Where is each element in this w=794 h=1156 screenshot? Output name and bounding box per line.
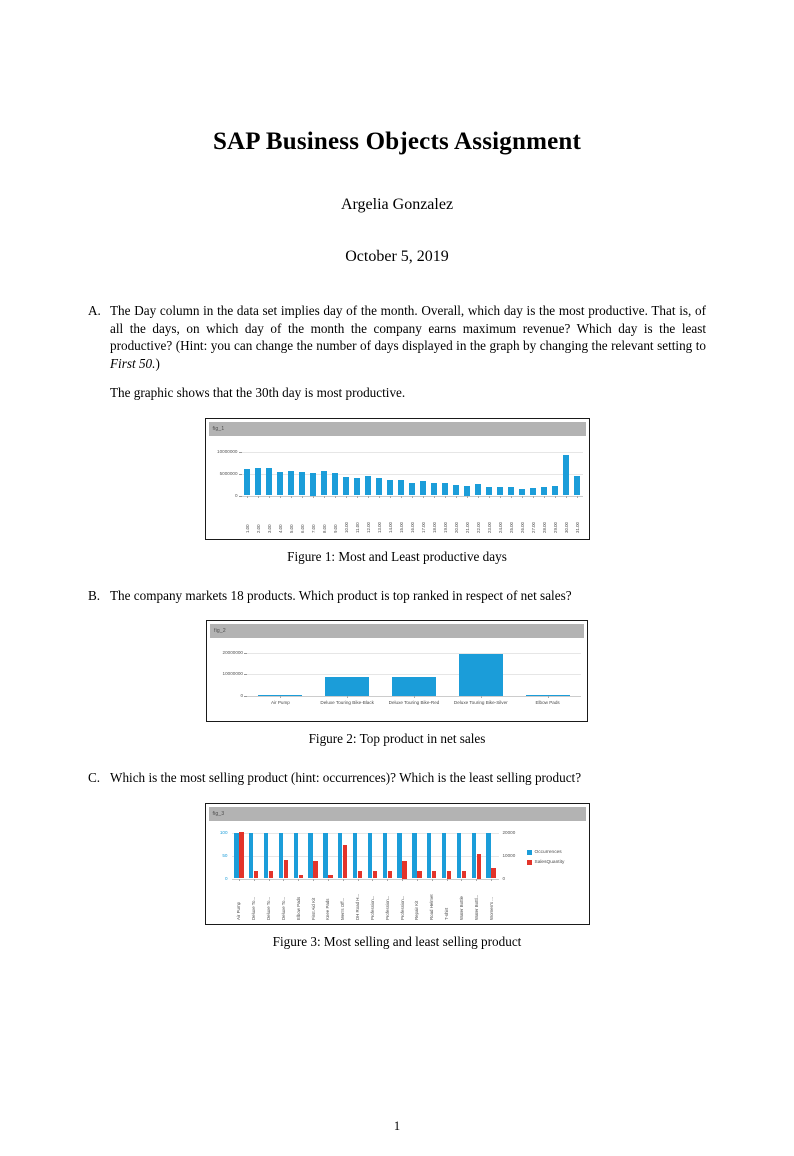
x-axis-label-28: 29.00: [553, 499, 558, 533]
item-c-label: C.: [88, 769, 110, 787]
list-item-b: B. The company markets 18 products. Whic…: [88, 587, 706, 605]
bar-2: [392, 677, 436, 696]
bar-salesquantity-3: [284, 860, 288, 879]
x-axis-label-11: Profession...: [400, 882, 405, 920]
bar-salesquantity-5: [313, 861, 317, 879]
x-axis-label-1: 2.00: [256, 499, 261, 533]
bar-5: [299, 472, 306, 496]
x-axis-label-9: Profession...: [370, 882, 375, 920]
bar-22: [486, 487, 493, 496]
x-axis-tick-mark: [324, 496, 325, 498]
item-a-label: A.: [88, 302, 110, 320]
bar-occurrences-2: [264, 833, 268, 878]
x-axis-tick-mark: [401, 496, 402, 498]
x-axis-tick-mark: [555, 496, 556, 498]
bar-25: [519, 489, 526, 496]
bar-salesquantity-16: [477, 854, 481, 879]
x-axis-label-1: Deluxe To...: [251, 882, 256, 920]
x-axis-tick-mark: [328, 879, 329, 881]
x-axis-tick-mark: [566, 496, 567, 498]
legend-swatch-1: [527, 860, 532, 865]
x-axis-label-3: Deluxe Touring Bike-Silver: [447, 700, 514, 705]
y-axis-tick-mark: [239, 496, 242, 497]
x-axis-tick-mark: [461, 879, 462, 881]
bar-occurrences-6: [323, 833, 327, 878]
chart-3-title: fig_3: [213, 811, 225, 817]
legend-item-0: Occurrences: [527, 850, 565, 855]
x-axis-label-22: 23.00: [487, 499, 492, 533]
bar-12: [376, 478, 383, 495]
bar-15: [409, 483, 416, 496]
x-axis-tick-mark: [417, 879, 418, 881]
item-b-label: B.: [88, 587, 110, 605]
document-author: Argelia Gonzalez: [0, 196, 794, 214]
bar-10: [354, 478, 361, 496]
x-axis-tick-mark: [335, 496, 336, 498]
y-axis-tick-mark: [239, 474, 242, 475]
x-axis-label-2: 3.00: [267, 499, 272, 533]
document-date: October 5, 2019: [0, 248, 794, 266]
bar-occurrences-7: [338, 833, 342, 878]
x-axis-tick-mark: [434, 496, 435, 498]
y-axis-tick-label: 0: [206, 493, 238, 498]
x-axis-tick-mark: [358, 879, 359, 881]
y-axis-left-tick-label: 0: [206, 876, 228, 881]
x-axis-label-12: Repair Kit: [414, 882, 419, 920]
x-axis-label-9: 10.00: [344, 499, 349, 533]
x-axis-tick-mark: [247, 496, 248, 498]
x-axis-label-13: Road Helmet: [429, 882, 434, 920]
x-axis-label-12: 13.00: [377, 499, 382, 533]
bar-occurrences-16: [472, 833, 476, 878]
chart-2[interactable]: fig_2 01000000020000000Air PumpDeluxe To…: [206, 620, 588, 722]
bar-occurrences-1: [249, 833, 253, 878]
x-axis-label-0: Air Pump: [236, 882, 241, 920]
bar-occurrences-13: [427, 833, 431, 878]
bar-occurrences-4: [294, 833, 298, 878]
x-axis-label-4: Elbow Pads: [296, 882, 301, 920]
bar-salesquantity-15: [462, 871, 466, 879]
x-axis-tick-mark: [522, 496, 523, 498]
item-c-question: Which is the most selling product (hint:…: [110, 769, 706, 787]
y-axis-tick-mark: [244, 674, 247, 675]
item-a-body: The Day column in the data set implies d…: [110, 302, 706, 402]
bar-23: [497, 487, 504, 496]
bar-salesquantity-11: [402, 861, 406, 879]
list-item-a: A. The Day column in the data set implie…: [88, 302, 706, 402]
x-axis-label-17: Women's ...: [489, 882, 494, 920]
x-axis-label-16: 17.00: [421, 499, 426, 533]
x-axis-tick-mark: [313, 879, 314, 881]
x-axis-label-8: DH Road H...: [355, 882, 360, 920]
bar-21: [475, 484, 482, 495]
y-axis-tick-mark: [239, 452, 242, 453]
chart-gridline: [242, 452, 583, 453]
chart-legend: OccurrencesSalesQuantity: [527, 850, 565, 865]
x-axis-label-8: 9.00: [333, 499, 338, 533]
x-axis-label-0: Air Pump: [247, 700, 314, 705]
figure-1: fig_1 05000000100000001.002.003.004.005.…: [88, 418, 706, 565]
chart-gridline: [232, 879, 499, 880]
x-axis-tick-mark: [548, 696, 549, 698]
item-a-question: The Day column in the data set implies d…: [110, 302, 706, 372]
x-axis-label-10: Profession...: [385, 882, 390, 920]
legend-item-1: SalesQuantity: [527, 860, 565, 865]
document-title: SAP Business Objects Assignment: [0, 128, 794, 156]
bar-occurrences-11: [397, 833, 401, 878]
x-axis-label-14: 15.00: [399, 499, 404, 533]
x-axis-label-21: 22.00: [476, 499, 481, 533]
bar-3: [459, 654, 503, 696]
x-axis-label-4: Elbow Pads: [514, 700, 581, 705]
list-item-c: C. Which is the most selling product (hi…: [88, 769, 706, 787]
bar-2: [266, 468, 273, 496]
y-axis-left-tick-label: 50: [206, 853, 228, 858]
x-axis-tick-mark: [544, 496, 545, 498]
bar-salesquantity-13: [432, 871, 436, 879]
x-axis-label-20: 21.00: [465, 499, 470, 533]
chart-3[interactable]: fig_3 05010001000020000Air PumpDeluxe To…: [205, 803, 590, 925]
x-axis-tick-mark: [577, 496, 578, 498]
x-axis-tick-mark: [368, 496, 369, 498]
bar-27: [541, 487, 548, 495]
x-axis-tick-mark: [283, 879, 284, 881]
x-axis-label-0: 1.00: [245, 499, 250, 533]
chart-gridline: [247, 674, 581, 675]
x-axis-label-18: 19.00: [443, 499, 448, 533]
x-axis-label-5: First Aid Kit: [311, 882, 316, 920]
x-axis-label-24: 25.00: [509, 499, 514, 533]
x-axis-tick-mark: [269, 496, 270, 498]
bar-occurrences-9: [368, 833, 372, 878]
x-axis-tick-mark: [432, 879, 433, 881]
x-axis-label-5: 6.00: [300, 499, 305, 533]
x-axis-tick-mark: [447, 879, 448, 881]
bar-11: [365, 476, 372, 495]
x-axis-label-16: Water Bottl...: [474, 882, 479, 920]
x-axis-tick-mark: [481, 696, 482, 698]
bar-occurrences-14: [442, 833, 446, 878]
x-axis-tick-mark: [478, 496, 479, 498]
x-axis-label-29: 30.00: [564, 499, 569, 533]
y-axis-tick-mark: [244, 696, 247, 697]
figure-1-caption: Figure 1: Most and Least productive days: [287, 549, 507, 565]
bar-17: [431, 483, 438, 496]
x-axis-tick-mark: [291, 496, 292, 498]
x-axis-label-13: 14.00: [388, 499, 393, 533]
x-axis-tick-mark: [456, 496, 457, 498]
y-axis-tick-label: 5000000: [206, 471, 238, 476]
figure-2: fig_2 01000000020000000Air PumpDeluxe To…: [88, 620, 706, 747]
y-axis-right-tick-label: 20000: [503, 830, 516, 835]
bar-salesquantity-12: [417, 871, 421, 879]
bar-16: [420, 481, 427, 495]
bar-salesquantity-17: [491, 868, 495, 879]
x-axis-label-11: 12.00: [366, 499, 371, 533]
y-axis-right-tick-label: 0: [503, 876, 506, 881]
chart-1-title: fig_1: [213, 426, 225, 432]
item-a-question-italic: First 50.: [110, 356, 155, 371]
x-axis-tick-mark: [254, 879, 255, 881]
x-axis-label-2: Deluxe To...: [266, 882, 271, 920]
item-a-question-part2: ): [155, 356, 159, 371]
chart-3-header: fig_3: [209, 807, 586, 821]
bar-29: [563, 455, 570, 495]
x-axis-tick-mark: [445, 496, 446, 498]
item-a-answer: The graphic shows that the 30th day is m…: [110, 384, 706, 402]
y-axis-tick-mark: [244, 653, 247, 654]
x-axis-tick-mark: [412, 496, 413, 498]
x-axis-tick-mark: [379, 496, 380, 498]
bar-occurrences-0: [234, 833, 238, 878]
x-axis-tick-mark: [258, 496, 259, 498]
bar-salesquantity-8: [358, 871, 362, 879]
bar-salesquantity-1: [254, 871, 258, 879]
bar-salesquantity-14: [447, 871, 451, 879]
document-body: A. The Day column in the data set implie…: [88, 302, 706, 950]
bar-19: [453, 485, 460, 496]
x-axis-label-1: Deluxe Touring Bike-Black: [314, 700, 381, 705]
bar-occurrences-5: [308, 833, 312, 878]
bar-20: [464, 486, 471, 496]
figure-3-caption: Figure 3: Most selling and least selling…: [273, 934, 522, 950]
bar-occurrences-12: [412, 833, 416, 878]
y-axis-right-tick-label: 10000: [503, 853, 516, 858]
bar-28: [552, 486, 559, 495]
bar-8: [332, 473, 339, 496]
bar-salesquantity-0: [239, 832, 243, 878]
bar-occurrences-10: [383, 833, 387, 878]
x-axis-tick-mark: [372, 879, 373, 881]
x-axis-tick-mark: [491, 879, 492, 881]
x-axis-tick-mark: [298, 879, 299, 881]
chart-1-header: fig_1: [209, 422, 586, 436]
bar-occurrences-15: [457, 833, 461, 878]
bar-9: [343, 477, 350, 496]
bar-13: [387, 480, 394, 496]
figure-3: fig_3 05010001000020000Air PumpDeluxe To…: [88, 803, 706, 950]
x-axis-label-6: 7.00: [311, 499, 316, 533]
x-axis-tick-mark: [489, 496, 490, 498]
item-b-question: The company markets 18 products. Which p…: [110, 587, 706, 605]
x-axis-tick-mark: [390, 496, 391, 498]
document-page: SAP Business Objects Assignment Argelia …: [0, 128, 794, 1156]
x-axis-label-23: 24.00: [498, 499, 503, 533]
bar-0: [244, 469, 251, 496]
bar-occurrences-3: [279, 833, 283, 878]
x-axis-label-15: 16.00: [410, 499, 415, 533]
x-axis-tick-mark: [402, 879, 403, 881]
x-axis-label-10: 11.00: [355, 499, 360, 533]
x-axis-label-14: T-shirt: [444, 882, 449, 920]
x-axis-label-4: 5.00: [289, 499, 294, 533]
x-axis-label-27: 28.00: [542, 499, 547, 533]
x-axis-tick-mark: [239, 879, 240, 881]
bar-6: [310, 473, 317, 496]
chart-2-header: fig_2: [210, 624, 584, 638]
bar-24: [508, 487, 515, 496]
y-axis-left-tick-label: 100: [206, 830, 228, 835]
bar-occurrences-8: [353, 833, 357, 878]
bar-30: [574, 476, 581, 496]
chart-1-plot-area: 05000000100000001.002.003.004.005.006.00…: [206, 436, 589, 537]
bar-salesquantity-9: [373, 871, 377, 879]
x-axis-tick-mark: [269, 879, 270, 881]
x-axis-label-6: Knee Pads: [325, 882, 330, 920]
x-axis-label-7: 8.00: [322, 499, 327, 533]
page-number: 1: [0, 1119, 794, 1134]
bar-1: [325, 677, 369, 696]
x-axis-tick-mark: [313, 496, 314, 498]
x-axis-label-26: 27.00: [531, 499, 536, 533]
legend-label-0: Occurrences: [535, 850, 562, 855]
x-axis-tick-mark: [511, 496, 512, 498]
chart-2-plot-area: 01000000020000000Air PumpDeluxe Touring …: [207, 638, 587, 719]
bar-7: [321, 471, 328, 495]
chart-gridline: [247, 653, 581, 654]
item-b-body: The company markets 18 products. Which p…: [110, 587, 706, 605]
x-axis-tick-mark: [280, 696, 281, 698]
y-axis-tick-label: 10000000: [206, 449, 238, 454]
x-axis-tick-mark: [343, 879, 344, 881]
x-axis-tick-mark: [280, 496, 281, 498]
item-a-question-part1: The Day column in the data set implies d…: [110, 303, 706, 353]
bar-18: [442, 483, 449, 495]
x-axis-tick-mark: [357, 496, 358, 498]
x-axis-label-19: 20.00: [454, 499, 459, 533]
bar-1: [255, 468, 262, 496]
x-axis-tick-mark: [500, 496, 501, 498]
bar-salesquantity-7: [343, 845, 347, 879]
x-axis-tick-mark: [387, 879, 388, 881]
legend-swatch-0: [527, 850, 532, 855]
x-axis-label-25: 26.00: [520, 499, 525, 533]
x-axis-label-2: Deluxe Touring Bike-Red: [381, 700, 448, 705]
x-axis-label-15: Water Bottle: [459, 882, 464, 920]
x-axis-label-3: Deluxe To...: [281, 882, 286, 920]
x-axis-tick-mark: [467, 496, 468, 498]
x-axis-tick-mark: [347, 696, 348, 698]
x-axis-tick-mark: [533, 496, 534, 498]
bar-26: [530, 488, 537, 496]
chart-3-plot-area: 05010001000020000Air PumpDeluxe To...Del…: [206, 821, 589, 922]
bar-salesquantity-10: [388, 871, 392, 879]
bar-14: [398, 480, 405, 496]
bar-3: [277, 472, 284, 496]
figure-2-caption: Figure 2: Top product in net sales: [309, 731, 486, 747]
x-axis-tick-mark: [302, 496, 303, 498]
x-axis-tick-mark: [414, 696, 415, 698]
x-axis-label-30: 31.00: [575, 499, 580, 533]
x-axis-label-3: 4.00: [278, 499, 283, 533]
x-axis-tick-mark: [423, 496, 424, 498]
y-axis-tick-label: 20000000: [207, 650, 243, 655]
legend-label-1: SalesQuantity: [535, 860, 565, 865]
chart-2-title: fig_2: [214, 628, 226, 634]
bar-4: [288, 471, 295, 496]
chart-1[interactable]: fig_1 05000000100000001.002.003.004.005.…: [205, 418, 590, 540]
x-axis-tick-mark: [346, 496, 347, 498]
item-c-body: Which is the most selling product (hint:…: [110, 769, 706, 787]
x-axis-label-17: 18.00: [432, 499, 437, 533]
x-axis-tick-mark: [476, 879, 477, 881]
x-axis-label-7: Men's Off...: [340, 882, 345, 920]
bar-salesquantity-2: [269, 871, 273, 879]
y-axis-tick-label: 0: [207, 693, 243, 698]
bar-occurrences-17: [486, 833, 490, 878]
y-axis-tick-label: 10000000: [207, 671, 243, 676]
